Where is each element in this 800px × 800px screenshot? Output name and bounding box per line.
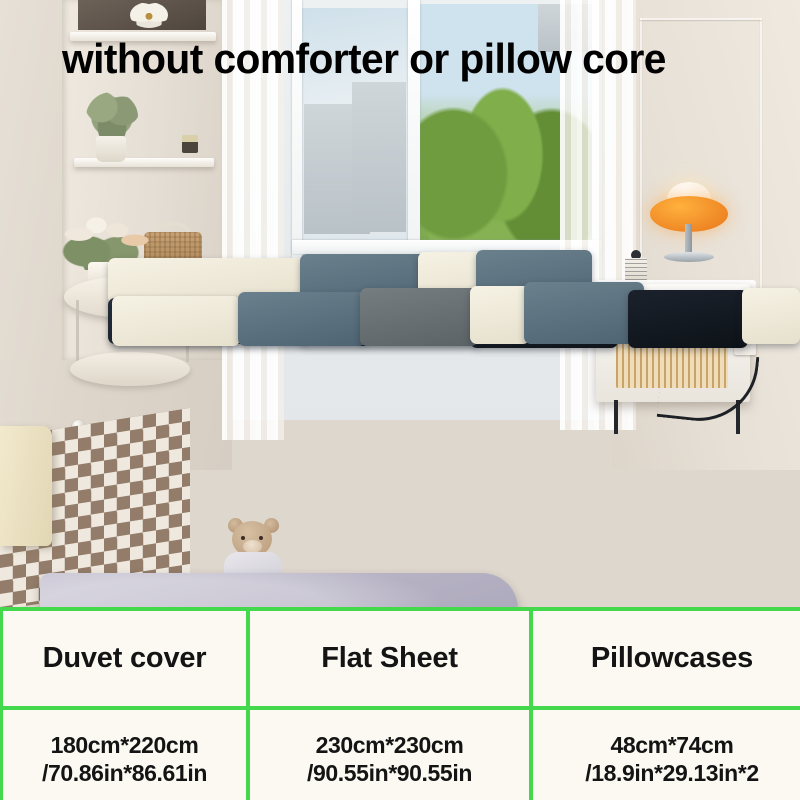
wall-panel-line [640,18,762,20]
headline-text: without comforter or pillow core [62,38,731,80]
spec-size-cm: 180cm*220cm [42,731,207,759]
candle [182,135,198,153]
pillow-front-slate [238,292,366,346]
spec-size-duvet-cover: 180cm*220cm /70.86in*86.61in [3,710,246,800]
framed-flower-art [78,0,206,30]
spec-header-flat-sheet: Flat Sheet [250,611,529,706]
spec-header-duvet-cover: Duvet cover [3,611,246,706]
spec-size-cm: 230cm*230cm [307,731,472,759]
shelf-middle [74,158,214,167]
spec-size-pillowcases: 48cm*74cm /18.9in*29.13in*2 [533,710,800,800]
pillow-front-cream [112,296,240,346]
spec-header-pillowcases: Pillowcases [533,611,800,706]
pillow-front-cream-3 [742,288,800,344]
spec-size-in: /90.55in*90.55in [307,759,472,787]
pillow-front-gray [360,288,478,346]
lavender-throw-blanket [40,573,518,609]
bed [0,240,800,609]
potted-plant-foliage [86,92,138,142]
pillow-front-cream-2 [470,286,530,344]
flower-motif [130,2,168,28]
spec-size-cm: 48cm*74cm [585,731,758,759]
potted-plant-pot [96,136,126,162]
spec-size-in: /70.86in*86.61in [42,759,207,787]
spec-size-flat-sheet: 230cm*230cm /90.55in*90.55in [250,710,529,800]
spec-size-in: /18.9in*29.13in*2 [585,759,758,787]
size-spec-table: Duvet cover Flat Sheet Pillowcases 180cm… [0,607,800,800]
pillow-front-slate-2 [524,282,644,344]
product-image: without comforter or pillow core Duvet c… [0,0,800,800]
bedroom-product-photo: without comforter or pillow core [0,0,800,609]
pillow-front-dark [628,290,748,348]
